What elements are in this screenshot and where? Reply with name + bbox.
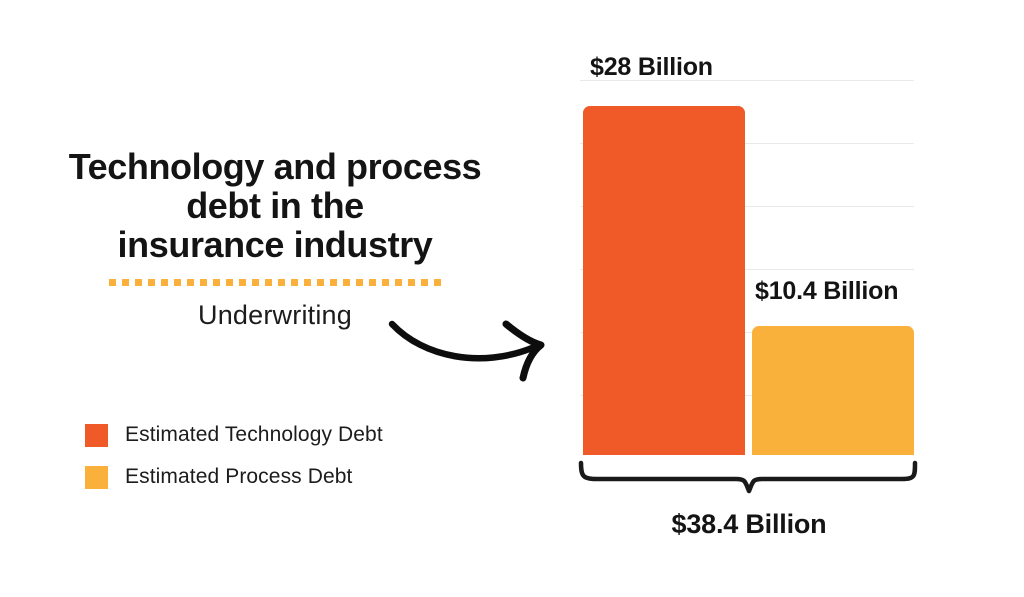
bar-technology-debt[interactable] xyxy=(583,106,745,455)
bar-value-process-debt: $10.4 Billion xyxy=(755,277,898,306)
infographic-canvas: Technology and process debt in the insur… xyxy=(0,0,1024,597)
bar-process-debt[interactable] xyxy=(752,326,914,455)
total-brace xyxy=(575,460,923,502)
bar-value-technology-debt: $28 Billion xyxy=(590,53,713,82)
bar-chart: $28 Billion $10.4 Billion $38.4 Billion xyxy=(0,0,1024,597)
total-value-label: $38.4 Billion xyxy=(575,509,923,540)
